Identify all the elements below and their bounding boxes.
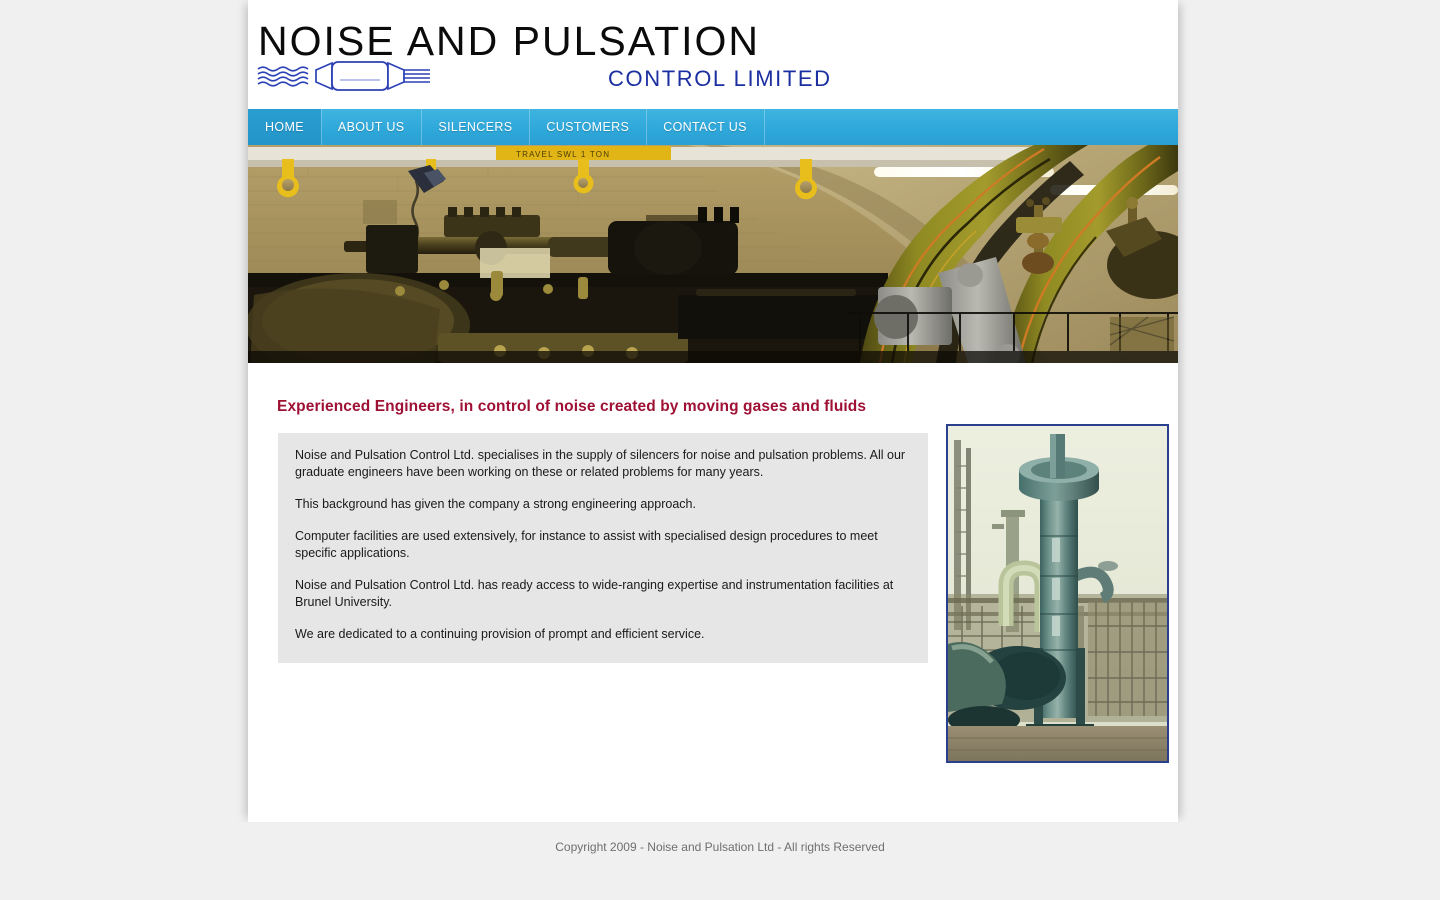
intro-paragraph: This background has given the company a …	[295, 496, 911, 513]
nav-item-customers[interactable]: CUSTOMERS	[529, 109, 646, 145]
svg-text:TRAVEL SWL 1 TON: TRAVEL SWL 1 TON	[516, 150, 610, 159]
intro-paragraph: We are dedicated to a continuing provisi…	[295, 626, 911, 643]
nav-item-contact-us[interactable]: CONTACT US	[646, 109, 764, 145]
main-navigation[interactable]: HOME ABOUT US SILENCERS CUSTOMERS CONTAC…	[248, 109, 1178, 145]
page-background: NOISE AND PULSATION CONTROL LIMITED	[0, 0, 1440, 900]
intro-paragraph: Noise and Pulsation Control Ltd. special…	[295, 447, 911, 481]
nav-label: HOME	[265, 120, 304, 134]
silencer-stack-photo	[946, 424, 1169, 763]
hero-banner-image: TRAVEL SWL 1 TON	[248, 145, 1178, 363]
intro-paragraph: Noise and Pulsation Control Ltd. has rea…	[295, 577, 911, 611]
site-container: NOISE AND PULSATION CONTROL LIMITED	[248, 0, 1178, 822]
nav-label: ABOUT US	[338, 120, 404, 134]
nav-label: CONTACT US	[663, 120, 747, 134]
copyright-text: Copyright 2009 - Noise and Pulsation Ltd…	[0, 840, 1440, 854]
nav-item-silencers[interactable]: SILENCERS	[421, 109, 529, 145]
page-title: Experienced Engineers, in control of noi…	[277, 398, 866, 416]
intro-text-box: Noise and Pulsation Control Ltd. special…	[278, 433, 928, 663]
site-header: NOISE AND PULSATION CONTROL LIMITED	[248, 0, 1178, 109]
nav-item-home[interactable]: HOME	[248, 109, 321, 145]
nav-label: CUSTOMERS	[546, 120, 629, 134]
company-name-subtitle: CONTROL LIMITED	[608, 66, 832, 92]
site-footer: Copyright 2009 - Noise and Pulsation Ltd…	[0, 822, 1440, 900]
nav-filler	[764, 109, 1178, 145]
nav-item-about-us[interactable]: ABOUT US	[321, 109, 421, 145]
nav-label: SILENCERS	[438, 120, 512, 134]
silencer-muffler-icon	[254, 58, 432, 94]
intro-paragraph: Computer facilities are used extensively…	[295, 528, 911, 562]
